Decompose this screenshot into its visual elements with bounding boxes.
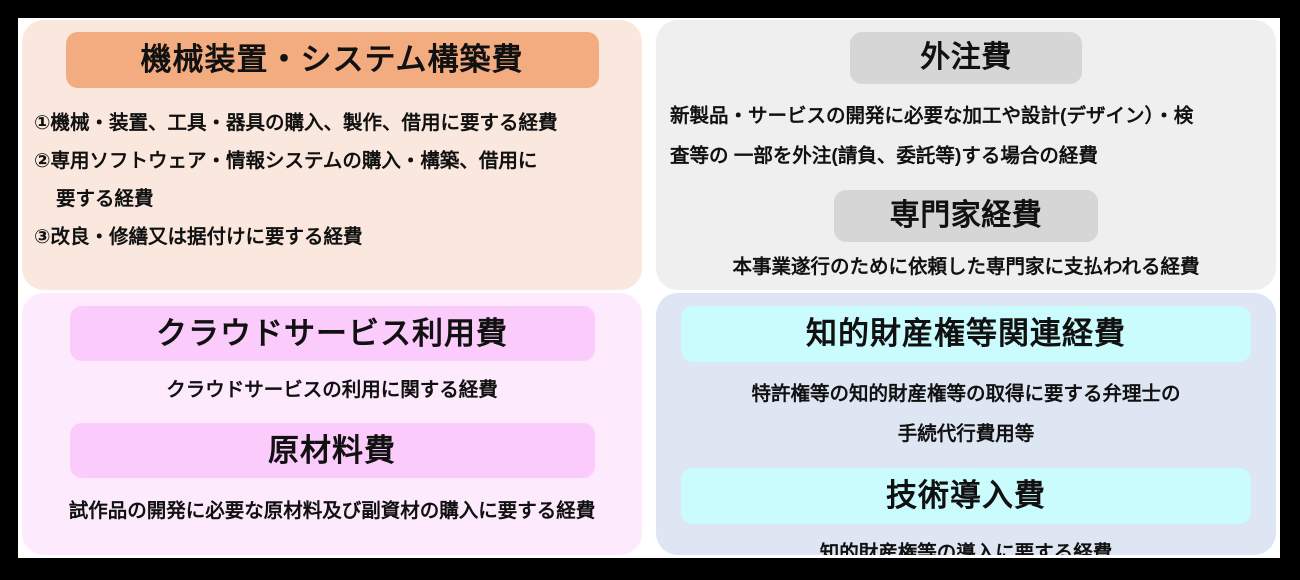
panel-outsourcing-title: 外注費 xyxy=(850,32,1082,84)
machine-item-2: ②専用ソフトウェア・情報システムの購入・構築、借用に xyxy=(34,150,537,172)
outsourcing-description-line-2: 査等の 一部を外注(請負、委託等)する場合の経費 xyxy=(670,136,1262,176)
intellectual-property-description: 特許権等の知的財産権等の取得に要する弁理士の 手続代行費用等 xyxy=(656,374,1276,454)
outsourcing-description-line-1: 新製品・サービスの開発に必要な加工や設計(デザイン）・検 xyxy=(670,96,1262,136)
machine-item-3: ③改良・修繕又は据付けに要する経費 xyxy=(34,226,363,248)
cloud-service-description: クラウドサービスの利用に関する経費 xyxy=(22,375,642,405)
expense-category-grid: 機械装置・システム構築費 ①機械・装置、工具・器具の購入、製作、借用に要する経費… xyxy=(22,20,1276,557)
list-item: ③改良・修繕又は据付けに要する経費 xyxy=(34,218,634,256)
list-item: ②専用ソフトウェア・情報システムの購入・構築、借用に xyxy=(34,142,634,180)
panel-intellectual-property-title: 知的財産権等関連経費 xyxy=(681,306,1251,362)
panel-outsourcing: 外注費 新製品・サービスの開発に必要な加工や設計(デザイン）・検 査等の 一部を… xyxy=(656,20,1276,290)
page-canvas: 機械装置・システム構築費 ①機械・装置、工具・器具の購入、製作、借用に要する経費… xyxy=(18,18,1280,558)
panel-expert-title: 専門家経費 xyxy=(834,190,1098,242)
panel-machine-equipment: 機械装置・システム構築費 ①機械・装置、工具・器具の購入、製作、借用に要する経費… xyxy=(22,20,642,290)
list-item: ①機械・装置、工具・器具の購入、製作、借用に要する経費 xyxy=(34,104,634,142)
machine-item-1: ①機械・装置、工具・器具の購入、製作、借用に要する経費 xyxy=(34,112,558,134)
ip-description-line-2: 手続代行費用等 xyxy=(656,414,1276,454)
panel-cloud-service: クラウドサービス利用費 クラウドサービスの利用に関する経費 原材料費 試作品の開… xyxy=(22,293,642,555)
panel-machine-title: 機械装置・システム構築費 xyxy=(66,32,599,88)
panel-technology-introduction-title: 技術導入費 xyxy=(681,468,1251,524)
panel-raw-material-title: 原材料費 xyxy=(70,423,595,478)
ip-description-line-1: 特許権等の知的財産権等の取得に要する弁理士の xyxy=(656,374,1276,414)
technology-introduction-description: 知的財産権等の導入に要する経費 xyxy=(656,538,1276,555)
panel-intellectual-property: 知的財産権等関連経費 特許権等の知的財産権等の取得に要する弁理士の 手続代行費用… xyxy=(656,293,1276,555)
outsourcing-description: 新製品・サービスの開発に必要な加工や設計(デザイン）・検 査等の 一部を外注(請… xyxy=(656,96,1276,176)
machine-item-2-continued: 要する経費 xyxy=(34,180,634,218)
machine-expense-list: ①機械・装置、工具・器具の購入、製作、借用に要する経費 ②専用ソフトウェア・情報… xyxy=(22,104,642,256)
panel-cloud-service-title: クラウドサービス利用費 xyxy=(70,306,595,361)
list-item: 要する経費 xyxy=(34,180,634,218)
expert-description: 本事業遂行のために依頼した専門家に支払われる経費 xyxy=(656,252,1276,282)
raw-material-description: 試作品の開発に必要な原材料及び副資材の購入に要する経費 xyxy=(22,496,642,526)
